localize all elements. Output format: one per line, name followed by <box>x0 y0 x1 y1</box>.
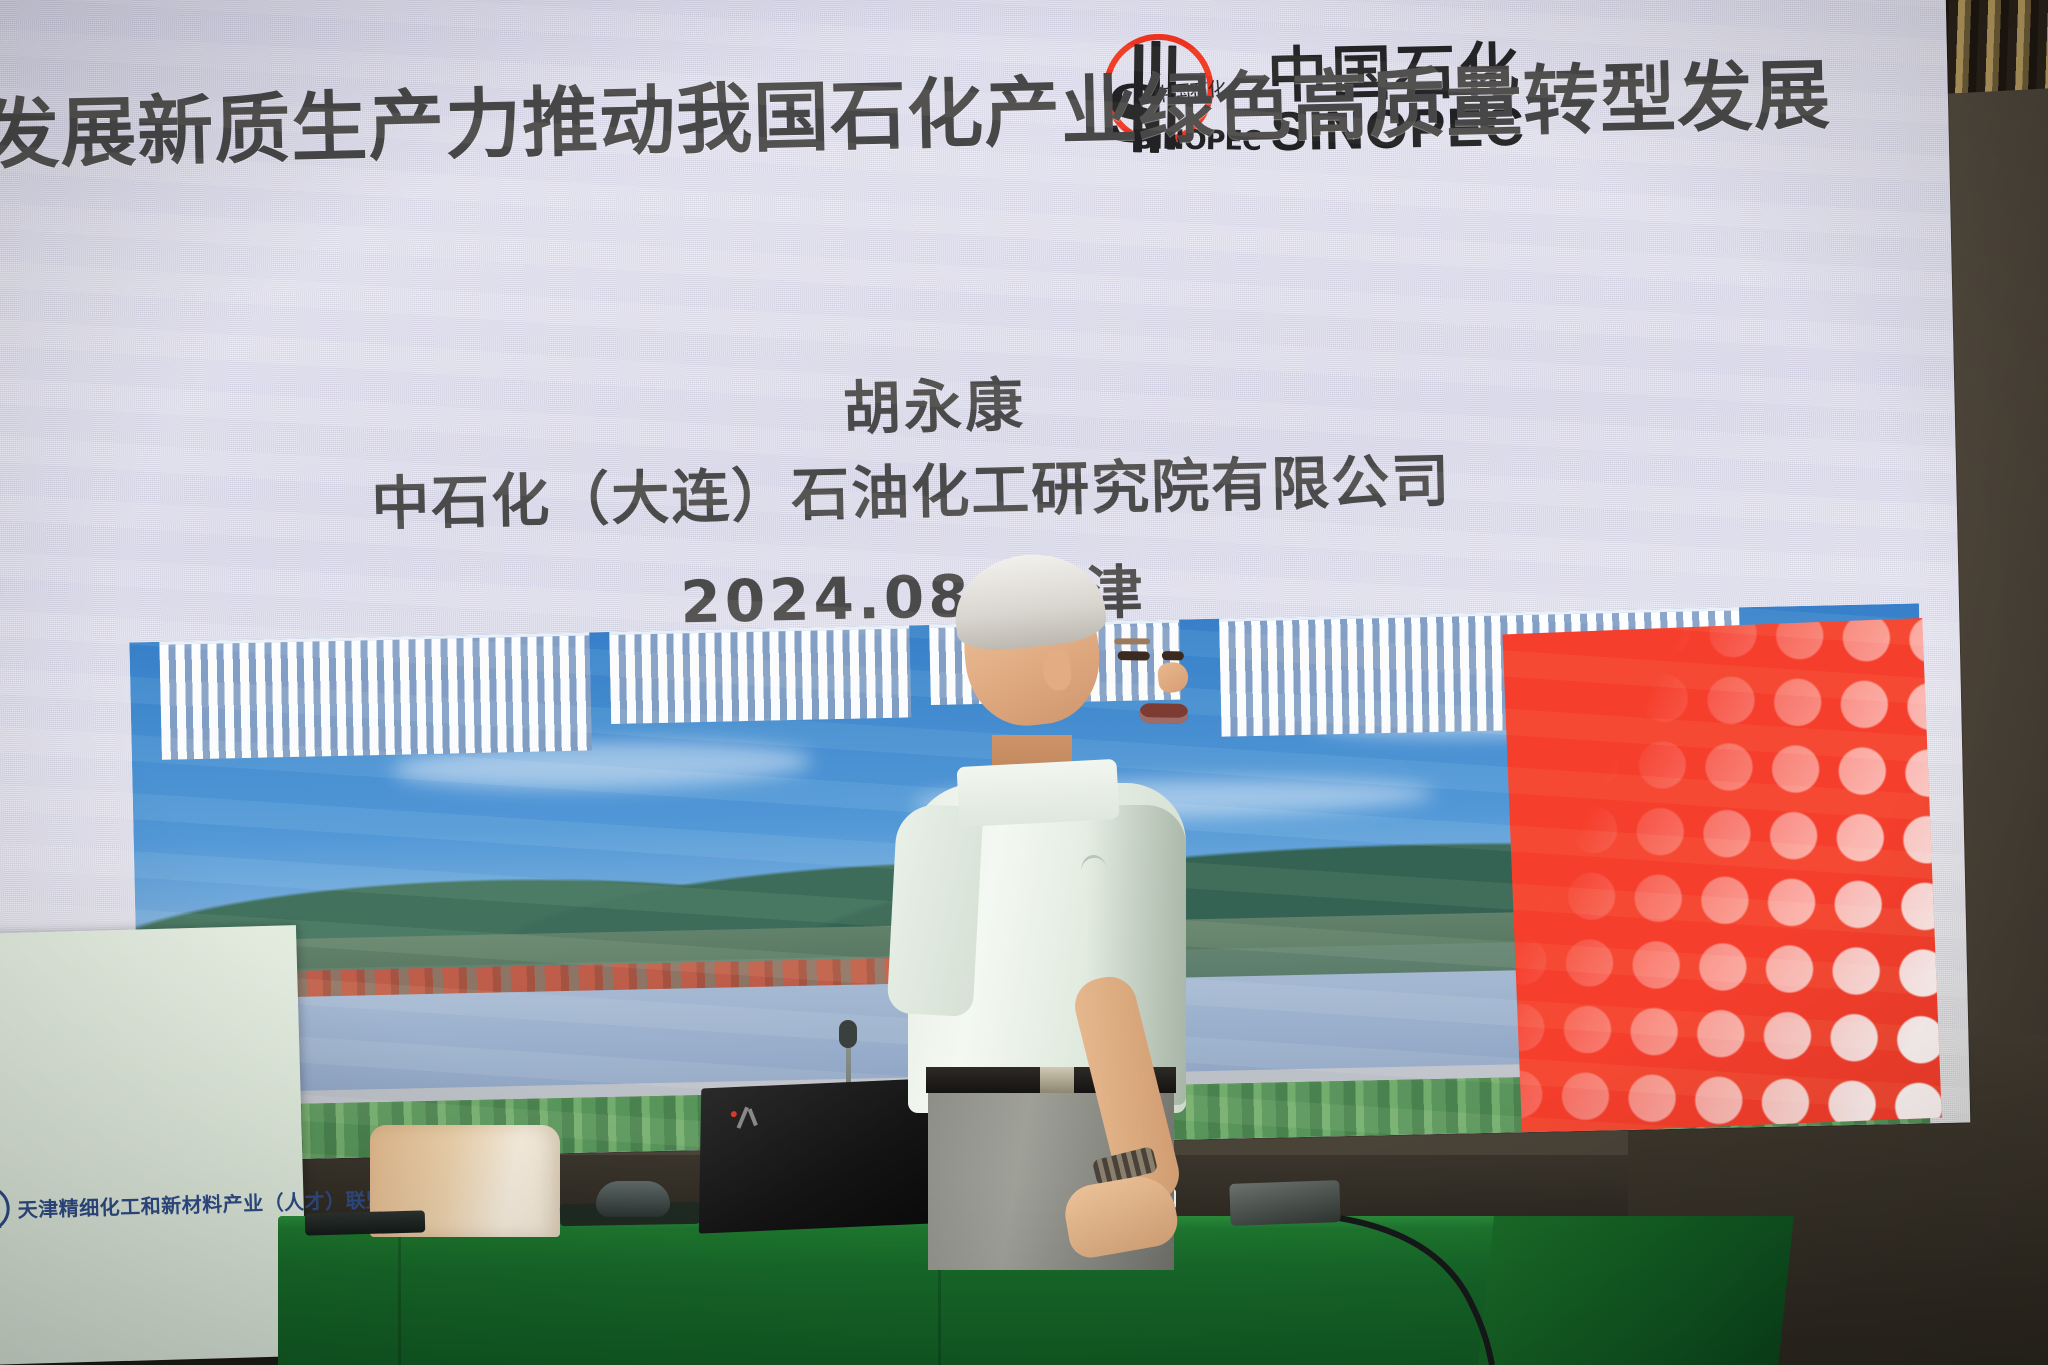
alliance-podium-sign: 天津精细化工和新材料产业（人才）联盟 <box>0 925 308 1365</box>
presenter-clicker[interactable] <box>1229 1180 1340 1226</box>
power-cable <box>1290 1205 1570 1365</box>
presenter-right-arm <box>1076 975 1194 1285</box>
microphone-head-icon <box>839 1020 857 1048</box>
presenter-eye-left <box>1118 651 1150 661</box>
presenter-eyebrow <box>1114 638 1150 644</box>
presenter-eye-right <box>1162 651 1184 660</box>
laptop-brand-logo-icon <box>731 1106 767 1130</box>
halftone-dot-pattern <box>1503 618 1942 1134</box>
presenter-person <box>880 555 1210 1255</box>
red-accent-panel <box>1503 618 1942 1134</box>
campus-building-2 <box>609 625 911 724</box>
presenter-left-sleeve <box>887 803 984 1017</box>
podium-sign-row: 天津精细化工和新材料产业（人才）联盟 <box>0 1178 284 1232</box>
presenter-ear <box>1041 649 1073 692</box>
belt-buckle <box>1040 1067 1074 1093</box>
presentation-headline: 发展新质生产力推动我国石化产业绿色高质量转型发展 <box>0 54 1904 176</box>
campus-building-1 <box>159 632 591 759</box>
conference-stage-scene: S 中国石化 SINOPEC 中国石化 SINOPEC 发展新质生产力推动我国石… <box>0 0 2048 1365</box>
mobile-phone[interactable] <box>305 1210 426 1235</box>
presenter-nose <box>1157 661 1190 694</box>
presenter-collar <box>957 759 1120 827</box>
presenter-mouth <box>1140 703 1188 724</box>
computer-mouse[interactable] <box>596 1181 670 1217</box>
table-fold-1 <box>398 1222 401 1365</box>
alliance-logo-icon <box>0 1185 10 1232</box>
